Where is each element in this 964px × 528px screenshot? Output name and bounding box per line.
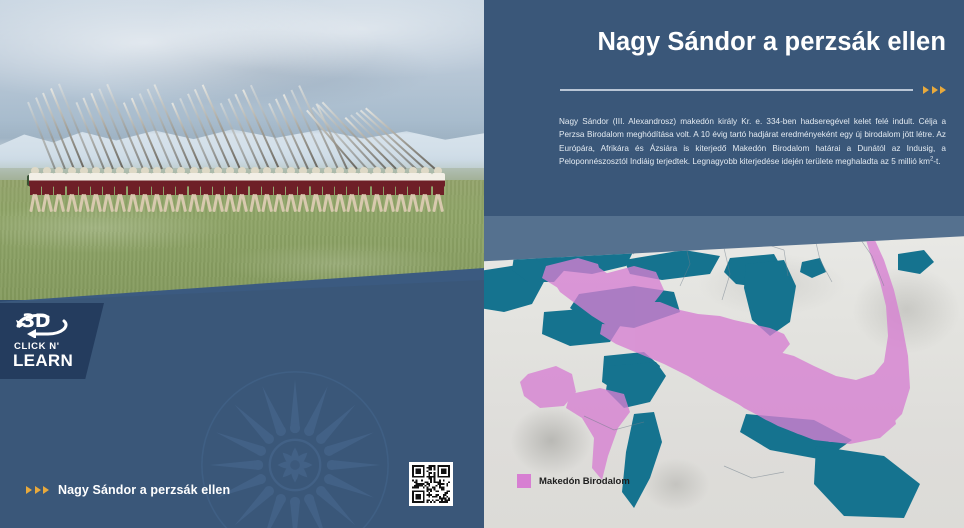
poster-stage: 3D CLICK N' LEARN Nagy Sándor a perzsák … xyxy=(0,0,964,528)
triangle-right-icon xyxy=(26,486,49,494)
sarissa-spear xyxy=(187,94,221,170)
article-text-tail: -t. xyxy=(933,157,940,166)
phalanx-formation xyxy=(28,145,448,225)
macedonian-empire-area xyxy=(520,238,910,480)
footer: Nagy Sándor a perzsák ellen xyxy=(26,483,230,497)
legend-label: Makedón Birodalom xyxy=(539,476,630,487)
page-title: Nagy Sándor a perzsák ellen xyxy=(484,28,946,57)
vergina-sun-icon xyxy=(198,368,392,528)
sarissa-spear xyxy=(283,94,319,169)
title-rule-row xyxy=(560,86,946,94)
qr-code[interactable] xyxy=(409,462,453,506)
triangle-right-icon xyxy=(923,86,946,94)
right-column: Nagy Sándor a perzsák ellen Nagy Sándor … xyxy=(484,0,964,528)
sarissa-spear xyxy=(355,112,416,169)
sarissa-spear xyxy=(194,89,231,169)
macedonian-empire-map[interactable]: Makedón Birodalom xyxy=(484,216,964,528)
badge-learn-label: LEARN xyxy=(13,351,73,371)
phalanx-soldier xyxy=(28,167,43,225)
sarissa-spear xyxy=(154,84,192,169)
legend-swatch xyxy=(517,474,531,488)
map-container: Makedón Birodalom xyxy=(484,216,964,528)
map-legend: Makedón Birodalom xyxy=(517,474,630,488)
sarissa-spear xyxy=(298,85,338,169)
soldier-row xyxy=(28,165,448,225)
badge-3d-label: 3D xyxy=(22,310,50,332)
curved-arrow-icon: 3D xyxy=(14,312,72,338)
sarissa-spears xyxy=(54,77,444,169)
article-paragraph: Nagy Sándor (III. Alexandrosz) makedón k… xyxy=(559,115,946,168)
sarissa-spear xyxy=(242,89,279,169)
sarissa-spear xyxy=(106,84,143,169)
sarissa-spear xyxy=(235,94,270,169)
sarissa-spear xyxy=(58,84,95,170)
left-column: 3D CLICK N' LEARN Nagy Sándor a perzsák … xyxy=(0,0,484,528)
macedonian-phalanx-photo xyxy=(0,0,484,300)
article-text: Nagy Sándor (III. Alexandrosz) makedón k… xyxy=(559,117,946,166)
sarissa-spear xyxy=(98,89,133,170)
sarissa-spear xyxy=(146,89,182,170)
divider xyxy=(560,89,913,91)
footer-title: Nagy Sándor a perzsák ellen xyxy=(58,483,230,497)
sarissa-spear xyxy=(275,99,309,170)
